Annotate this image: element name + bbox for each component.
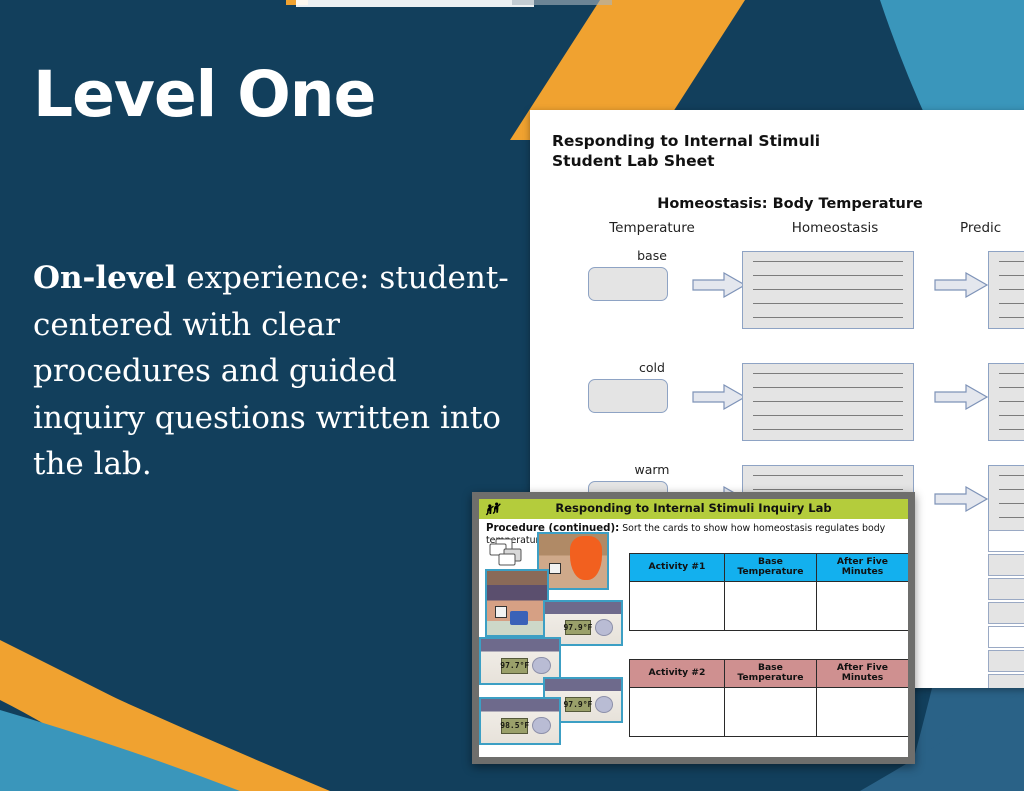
arm-with-ice-pack-photo <box>485 569 549 637</box>
cell-activity-1-base[interactable] <box>724 581 816 630</box>
temperature-input-cold[interactable] <box>588 379 668 413</box>
prediction-answer-cold[interactable] <box>988 363 1024 441</box>
row-label-cold: cold <box>582 360 722 375</box>
slide-body-lead: On-level <box>33 260 176 296</box>
arrow-right-icon <box>692 272 746 298</box>
arrow-right-icon <box>692 384 746 410</box>
cell-activity-1-after[interactable] <box>816 581 908 630</box>
thermometer-reading-4: 98.5°F <box>501 718 528 733</box>
homeostasis-answer-cold[interactable] <box>742 363 914 441</box>
thermometer-reading-2: 97.7°F <box>501 658 528 673</box>
activity-1-table[interactable]: Activity #1 Base Temperature After Five … <box>629 553 908 631</box>
top-accent-grey <box>512 0 612 5</box>
lab-sheet-subtitle: Homeostasis: Body Temperature <box>530 196 1024 212</box>
lab-sheet-title-line2: Student Lab Sheet <box>552 152 820 172</box>
arrow-right-icon <box>934 486 988 512</box>
cell-activity-2-after[interactable] <box>816 687 908 736</box>
cell-activity-2-base[interactable] <box>724 687 816 736</box>
cell-activity-2-name[interactable] <box>630 687 725 736</box>
header-base-temperature: Base Temperature <box>724 554 816 582</box>
table-row <box>630 687 909 736</box>
page-title: Level One <box>33 62 375 128</box>
thermometer-reading-3: 97.9°F <box>565 697 591 712</box>
inquiry-banner-title: Responding to Internal Stimuli Inquiry L… <box>479 501 908 515</box>
temperature-input-base[interactable] <box>588 267 668 301</box>
table-header-row: Activity #1 Base Temperature After Five … <box>630 554 909 582</box>
thermometer-reading-1: 97.9°F <box>565 620 591 635</box>
thermometer-photo-4: 98.5°F <box>479 697 561 745</box>
arrow-right-icon <box>934 384 988 410</box>
inquiry-lab-card[interactable]: Responding to Internal Stimuli Inquiry L… <box>472 492 915 764</box>
header-after-five-minutes: After Five Minutes <box>816 554 908 582</box>
header-after-five-minutes: After Five Minutes <box>816 660 908 688</box>
header-activity-2: Activity #2 <box>630 660 725 688</box>
header-activity-1: Activity #1 <box>630 554 725 582</box>
homeostasis-answer-base[interactable] <box>742 251 914 329</box>
activity-2-table[interactable]: Activity #2 Base Temperature After Five … <box>629 659 908 737</box>
row-label-base: base <box>582 248 722 263</box>
prediction-column-continued <box>988 530 1024 688</box>
column-header-temperature: Temperature <box>582 220 722 236</box>
table-header-row: Activity #2 Base Temperature After Five … <box>630 660 909 688</box>
column-header-homeostasis: Homeostasis <box>735 220 935 236</box>
arrow-right-icon <box>934 272 988 298</box>
row-label-warm: warm <box>582 462 722 477</box>
column-header-prediction: Predic <box>960 220 1024 236</box>
table-row: cold <box>530 360 1024 470</box>
table-row <box>630 581 909 630</box>
prediction-answer-base[interactable] <box>988 251 1024 329</box>
table-row: base <box>530 248 1024 358</box>
slide-canvas: Level One On-level experience: student-c… <box>0 0 1024 791</box>
lab-sheet-title-line1: Responding to Internal Stimuli <box>552 132 820 152</box>
slide-body-text: On-level experience: student-centered wi… <box>33 255 513 488</box>
cell-activity-1-name[interactable] <box>630 581 725 630</box>
header-base-temperature: Base Temperature <box>724 660 816 688</box>
card-sort-icon <box>487 537 527 567</box>
top-accent-white <box>296 0 534 7</box>
lab-sheet-title: Responding to Internal Stimuli Student L… <box>552 132 820 172</box>
